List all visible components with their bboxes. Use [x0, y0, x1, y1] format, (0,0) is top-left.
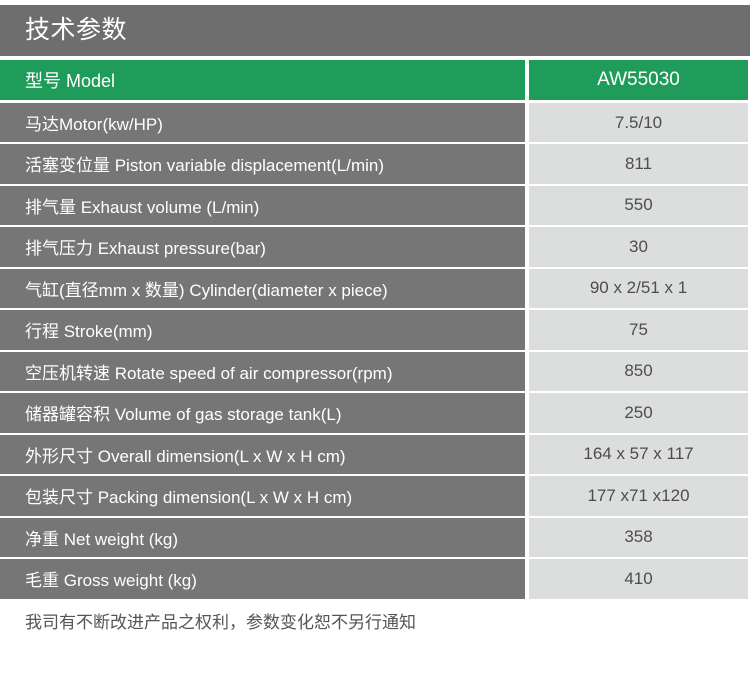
row-label: 空压机转速 Rotate speed of air compressor(rpm… — [0, 351, 527, 393]
row-label: 排气压力 Exhaust pressure(bar) — [0, 226, 527, 268]
disclaimer-note: 我司有不断改进产品之权利，参数变化恕不另行通知 — [25, 608, 416, 633]
table-row: 净重 Net weight (kg) 358 — [0, 517, 748, 559]
row-label: 活塞变位量 Piston variable displacement(L/min… — [0, 143, 527, 185]
row-value: 811 — [527, 143, 748, 185]
row-value: 850 — [527, 351, 748, 393]
row-value: 550 — [527, 185, 748, 227]
table-row: 行程 Stroke(mm) 75 — [0, 309, 748, 351]
row-value: 90 x 2/51 x 1 — [527, 268, 748, 310]
row-value: 250 — [527, 392, 748, 434]
table-row: 排气压力 Exhaust pressure(bar) 30 — [0, 226, 748, 268]
row-label: 排气量 Exhaust volume (L/min) — [0, 185, 527, 227]
title-banner: 技术参数 — [0, 5, 750, 56]
row-label: 包装尺寸 Packing dimension(L x W x H cm) — [0, 475, 527, 517]
table-row: 空压机转速 Rotate speed of air compressor(rpm… — [0, 351, 748, 393]
table-body: 型号 Model AW55030 马达Motor(kw/HP) 7.5/10 活… — [0, 60, 748, 600]
row-label: 行程 Stroke(mm) — [0, 309, 527, 351]
row-label: 外形尺寸 Overall dimension(L x W x H cm) — [0, 434, 527, 476]
table-row: 马达Motor(kw/HP) 7.5/10 — [0, 102, 748, 144]
table-row: 排气量 Exhaust volume (L/min) 550 — [0, 185, 748, 227]
row-value: 75 — [527, 309, 748, 351]
row-label: 储器罐容积 Volume of gas storage tank(L) — [0, 392, 527, 434]
row-value: 164 x 57 x 117 — [527, 434, 748, 476]
row-value: 30 — [527, 226, 748, 268]
table-row: 包装尺寸 Packing dimension(L x W x H cm) 177… — [0, 475, 748, 517]
page-title: 技术参数 — [0, 18, 127, 43]
row-value: 410 — [527, 558, 748, 600]
row-value: 358 — [527, 517, 748, 559]
specifications-table: 型号 Model AW55030 马达Motor(kw/HP) 7.5/10 活… — [0, 60, 748, 601]
spec-sheet: 技术参数 型号 Model AW55030 马达Motor(kw/HP) 7.5… — [0, 0, 750, 674]
table-row: 活塞变位量 Piston variable displacement(L/min… — [0, 143, 748, 185]
row-label: 气缸(直径mm x 数量) Cylinder(diameter x piece) — [0, 268, 527, 310]
header-value-cell: AW55030 — [527, 60, 748, 102]
table-row: 气缸(直径mm x 数量) Cylinder(diameter x piece)… — [0, 268, 748, 310]
table-row: 外形尺寸 Overall dimension(L x W x H cm) 164… — [0, 434, 748, 476]
row-label: 马达Motor(kw/HP) — [0, 102, 527, 144]
row-value: 7.5/10 — [527, 102, 748, 144]
table-header-row: 型号 Model AW55030 — [0, 60, 748, 102]
table-row: 毛重 Gross weight (kg) 410 — [0, 558, 748, 600]
row-value: 177 x71 x120 — [527, 475, 748, 517]
table-row: 储器罐容积 Volume of gas storage tank(L) 250 — [0, 392, 748, 434]
header-label-cell: 型号 Model — [0, 60, 527, 102]
row-label: 毛重 Gross weight (kg) — [0, 558, 527, 600]
row-label: 净重 Net weight (kg) — [0, 517, 527, 559]
